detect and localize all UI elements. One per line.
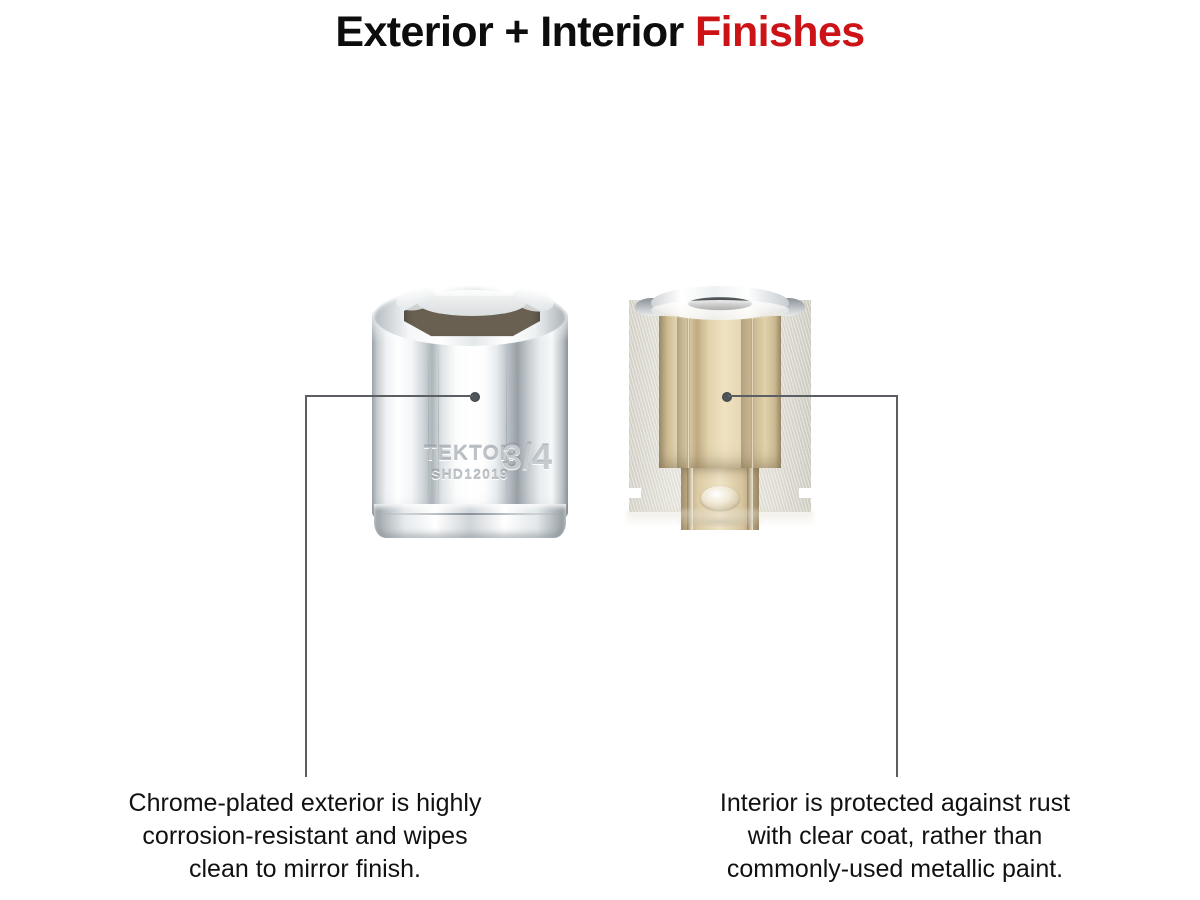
chrome-facet-seam — [518, 332, 519, 522]
cutaway-cut-face — [629, 300, 811, 512]
callout-anchor-dot — [722, 392, 732, 402]
caption-line: Chrome-plated exterior is highly — [90, 787, 520, 820]
caption-line: clean to mirror finish. — [90, 853, 520, 886]
chrome-facet-seam — [438, 332, 439, 522]
caption-line: Interior is protected against rust — [680, 787, 1110, 820]
callout-vertical-segment — [896, 395, 898, 777]
caption-line: corrosion-resistant and wipes — [90, 820, 520, 853]
cutaway-socket-image — [629, 286, 811, 526]
cut-face-notch — [629, 488, 641, 498]
callout-horizontal-segment — [305, 395, 473, 397]
caption-interior: Interior is protected against rust with … — [680, 787, 1110, 886]
caption-line: commonly-used metallic paint. — [680, 853, 1110, 886]
cutaway-rim-highlight — [651, 300, 789, 320]
page-title-black-part: Exterior + Interior — [335, 8, 695, 56]
callout-horizontal-segment — [728, 395, 898, 397]
page-title-red-part: Finishes — [695, 8, 865, 56]
caption-line: with clear coat, rather than — [680, 820, 1110, 853]
chrome-facet-seam — [506, 332, 507, 522]
infographic-canvas: Exterior + Interior Finishes TEKTON SHD1… — [0, 0, 1200, 900]
socket-interior-bore — [659, 316, 781, 468]
cut-face-notch — [799, 488, 811, 498]
chrome-socket-top-rim — [374, 286, 566, 346]
callout-vertical-segment — [305, 395, 307, 777]
engraved-size-marking: 3/4 — [502, 436, 552, 478]
chrome-socket-image: TEKTON SHD12019 3/4 — [372, 286, 568, 538]
page-title: Exterior + Interior Finishes — [0, 8, 1200, 57]
bore-flute-edge — [751, 316, 754, 468]
callout-anchor-dot — [470, 392, 480, 402]
bore-flute-edge — [687, 316, 690, 468]
chrome-socket-base-ring — [374, 504, 566, 538]
detent-ball — [701, 486, 739, 510]
cutaway-surface-reflection — [627, 510, 813, 526]
chrome-facet-seam — [428, 332, 429, 522]
caption-exterior: Chrome-plated exterior is highly corrosi… — [90, 787, 520, 886]
